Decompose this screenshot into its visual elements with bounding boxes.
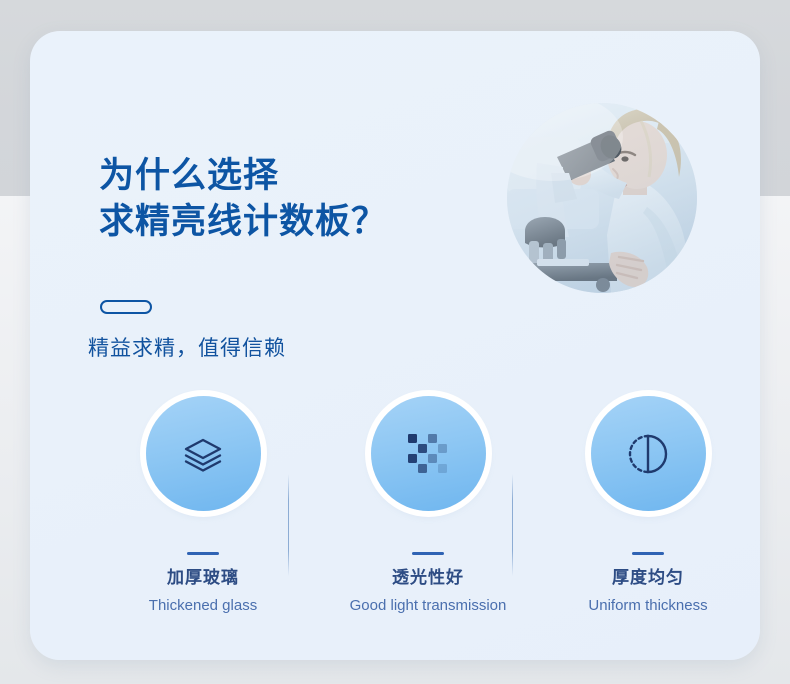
features-row: 加厚玻璃 Thickened glass — [30, 396, 760, 636]
feature-label-cn-3: 厚度均匀 — [538, 567, 758, 589]
checkerboard-transparency-icon — [406, 432, 450, 476]
feature-tick-1 — [187, 552, 219, 555]
page-root: 为什么选择 求精亮线计数板？ 精益求精，值得信赖 — [0, 0, 790, 684]
headline-line-1: 为什么选择 — [99, 153, 529, 199]
feature-icon-circle-1 — [146, 396, 261, 511]
microscope-scientist-photo — [507, 103, 697, 293]
feature-icon-circle-3 — [591, 396, 706, 511]
feature-tick-3 — [632, 552, 664, 555]
feature-label-cn-1: 加厚玻璃 — [93, 567, 313, 589]
subtitle-text: 精益求精，值得信赖 — [88, 334, 286, 364]
feature-item-light-transmission[interactable]: 透光性好 Good light transmission — [318, 396, 538, 616]
feature-label-en-1: Thickened glass — [93, 596, 313, 616]
headline-line-2: 求精亮线计数板？ — [99, 199, 529, 245]
feature-card: 为什么选择 求精亮线计数板？ 精益求精，值得信赖 — [30, 31, 760, 660]
layers-icon — [180, 431, 226, 477]
feature-item-uniform-thickness[interactable]: 厚度均匀 Uniform thickness — [538, 396, 758, 616]
pill-divider-icon — [100, 300, 152, 314]
feature-icon-circle-2 — [371, 396, 486, 511]
feature-item-thickened-glass[interactable]: 加厚玻璃 Thickened glass — [93, 396, 313, 616]
headline-block: 为什么选择 求精亮线计数板？ — [99, 153, 529, 245]
feature-label-en-2: Good light transmission — [318, 596, 538, 616]
feature-tick-2 — [412, 552, 444, 555]
feature-label-cn-2: 透光性好 — [318, 567, 538, 589]
feature-label-en-3: Uniform thickness — [538, 596, 758, 616]
half-circle-contrast-icon — [625, 431, 671, 477]
